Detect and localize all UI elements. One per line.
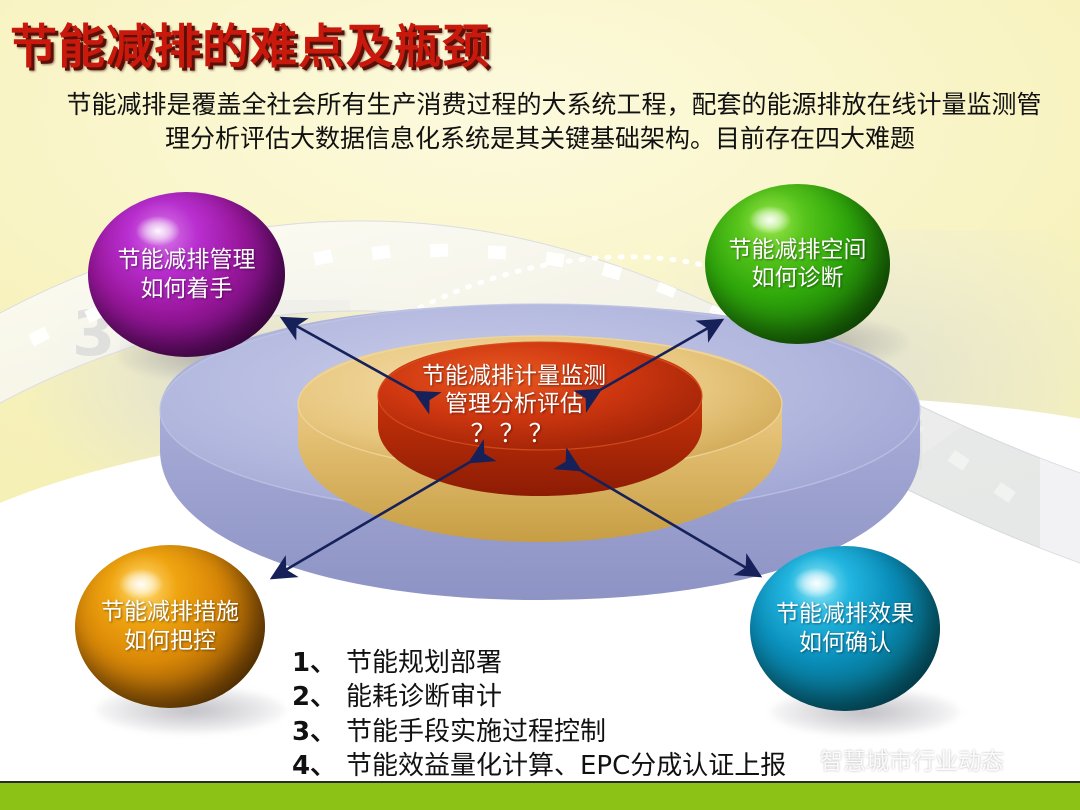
sphere-blue-line2: 如何确认	[799, 629, 891, 657]
list-item-number: 2、	[292, 680, 346, 714]
list-item: 1、 节能规划部署	[292, 646, 786, 680]
sphere-green[interactable]: 节能减排空间 如何诊断	[705, 184, 890, 344]
list-item-number: 1、	[292, 646, 346, 680]
list-item: 3、 节能手段实施过程控制	[292, 715, 786, 749]
sphere-green-line1: 节能减排空间	[729, 236, 867, 264]
sphere-purple-line1: 节能减排管理	[118, 246, 256, 274]
sphere-highlight	[119, 569, 163, 599]
sphere-highlight	[749, 206, 791, 234]
sphere-orange-line2: 如何把控	[124, 627, 216, 655]
list-item: 2、 能耗诊断审计	[292, 680, 786, 714]
sphere-highlight	[794, 568, 838, 598]
list-item-text: 节能手段实施过程控制	[346, 715, 606, 749]
list-item-text: 能耗诊断审计	[346, 680, 502, 714]
wechat-watermark: 智慧城市行业动态	[786, 742, 1004, 776]
watermark-text: 智慧城市行业动态	[820, 742, 1004, 776]
page-title: 节能减排的难点及瓶颈	[10, 8, 490, 77]
sphere-purple[interactable]: 节能减排管理 如何着手	[88, 192, 285, 357]
list-item-text: 节能效益量化计算、EPC分成认证上报	[346, 749, 786, 783]
footer-green-bar	[0, 783, 1080, 810]
sphere-orange-line1: 节能减排措施	[101, 598, 239, 626]
list-item: 4、 节能效益量化计算、EPC分成认证上报	[292, 749, 786, 783]
sphere-orange[interactable]: 节能减排措施 如何把控	[75, 545, 265, 708]
sphere-highlight	[136, 216, 180, 246]
list-item-number: 4、	[292, 749, 346, 783]
sphere-purple-line2: 如何着手	[141, 275, 233, 303]
subtitle-paragraph: 节能减排是覆盖全社会所有生产消费过程的大系统工程，配套的能源排放在线计量监测管理…	[28, 88, 1052, 156]
slide-canvas: 3	[0, 0, 1080, 810]
wechat-icon	[786, 748, 812, 770]
list-item-text: 节能规划部署	[346, 646, 502, 680]
list-item-number: 3、	[292, 715, 346, 749]
sphere-blue-line1: 节能减排效果	[776, 600, 914, 628]
sphere-green-line2: 如何诊断	[752, 264, 844, 292]
numbered-list: 1、 节能规划部署 2、 能耗诊断审计 3、 节能手段实施过程控制 4、 节能效…	[292, 646, 786, 783]
